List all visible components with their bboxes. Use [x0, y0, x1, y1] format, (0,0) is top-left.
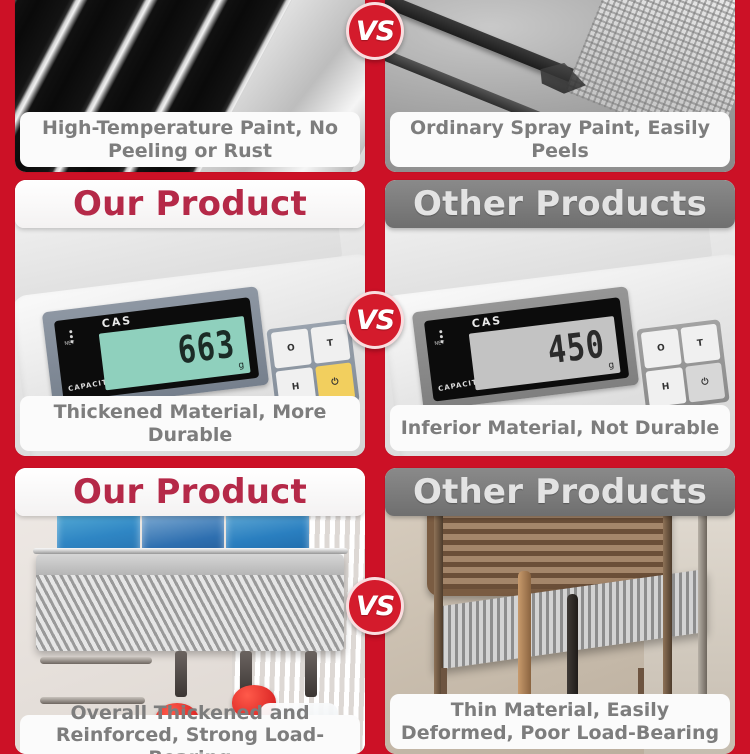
caption-text: Thickened Material, More Durable — [28, 401, 352, 446]
scale-net-label: NET — [434, 340, 445, 347]
scale-key-zero[interactable]: O — [640, 328, 681, 368]
caption-text: Overall Thickened and Reinforced, Strong… — [28, 702, 352, 754]
comparison-infographic: High-Temperature Paint, No Peeling or Ru… — [0, 0, 750, 750]
scale-key-power[interactable]: ⏻ — [684, 362, 725, 402]
vs-label: VS — [356, 593, 394, 620]
vs-label: VS — [356, 18, 394, 45]
scale-weight-unit: g — [237, 360, 244, 371]
caption-text: Inferior Material, Not Durable — [401, 417, 720, 439]
other-products-card-row3[interactable]: Other Products Thin Material, Easily Def… — [385, 468, 735, 754]
caption-bar: Inferior Material, Not Durable — [390, 405, 730, 451]
scale-key-tare[interactable]: T — [309, 323, 350, 363]
vs-badge: VS — [346, 291, 404, 349]
scale-brand-label: CAS — [101, 314, 133, 331]
other-products-card-row1[interactable]: Ordinary Spray Paint, Easily Peels — [385, 0, 735, 172]
our-product-label: Our Product — [73, 475, 307, 509]
scale-weight-value: 663 — [175, 327, 236, 371]
scale-weight-unit: g — [607, 360, 614, 371]
our-product-card-row1[interactable]: High-Temperature Paint, No Peeling or Ru… — [15, 0, 365, 172]
our-product-card-row2[interactable]: CAS NET Best Weighing Scale SW-1 CAPACIT… — [15, 180, 365, 456]
caption-bar: Ordinary Spray Paint, Easily Peels — [390, 112, 730, 167]
scale-lcd-frame: CAS NET Best Weighing Scale SW-1 CAPACIT… — [53, 297, 259, 402]
scale-weight-value: 450 — [545, 327, 606, 371]
our-product-header-band: Our Product — [15, 180, 365, 228]
caption-bar: High-Temperature Paint, No Peeling or Ru… — [20, 112, 360, 167]
caption-bar: Thin Material, Easily Deformed, Poor Loa… — [390, 694, 730, 749]
other-products-label: Other Products — [413, 475, 707, 509]
scale-keypad[interactable]: O T H ⏻ — [636, 319, 729, 411]
scale-key-tare[interactable]: T — [679, 323, 720, 363]
scale-lcd-frame: CAS NET Best Weighing Scale SW-1 CAPACIT… — [423, 297, 629, 402]
rack-towel-bar-upper — [40, 657, 152, 664]
caption-bar: Thickened Material, More Durable — [20, 396, 360, 451]
scale-key-hold[interactable]: H — [645, 367, 686, 407]
scale-net-label: NET — [64, 340, 75, 347]
vs-badge: VS — [346, 577, 404, 635]
other-products-card-row2[interactable]: CAS NET Best Weighing Scale SW-1 CAPACIT… — [385, 180, 735, 456]
caption-text: Ordinary Spray Paint, Easily Peels — [398, 117, 722, 162]
rack-basket — [36, 554, 344, 651]
caption-bar: Overall Thickened and Reinforced, Strong… — [20, 697, 360, 754]
scale-key-zero[interactable]: O — [270, 328, 311, 368]
caption-text: High-Temperature Paint, No Peeling or Ru… — [28, 117, 352, 162]
our-product-header-band: Our Product — [15, 468, 365, 516]
vs-label: VS — [356, 307, 394, 334]
our-product-label: Our Product — [73, 187, 307, 221]
caption-text: Thin Material, Easily Deformed, Poor Loa… — [398, 699, 722, 744]
other-products-header-band: Other Products — [385, 468, 735, 516]
vs-badge: VS — [346, 2, 404, 60]
other-products-header-band: Other Products — [385, 180, 735, 228]
our-product-card-row3[interactable]: Our Product Overall Thickened and Reinfo… — [15, 468, 365, 754]
scale-brand-label: CAS — [471, 314, 503, 331]
other-products-label: Other Products — [413, 187, 707, 221]
